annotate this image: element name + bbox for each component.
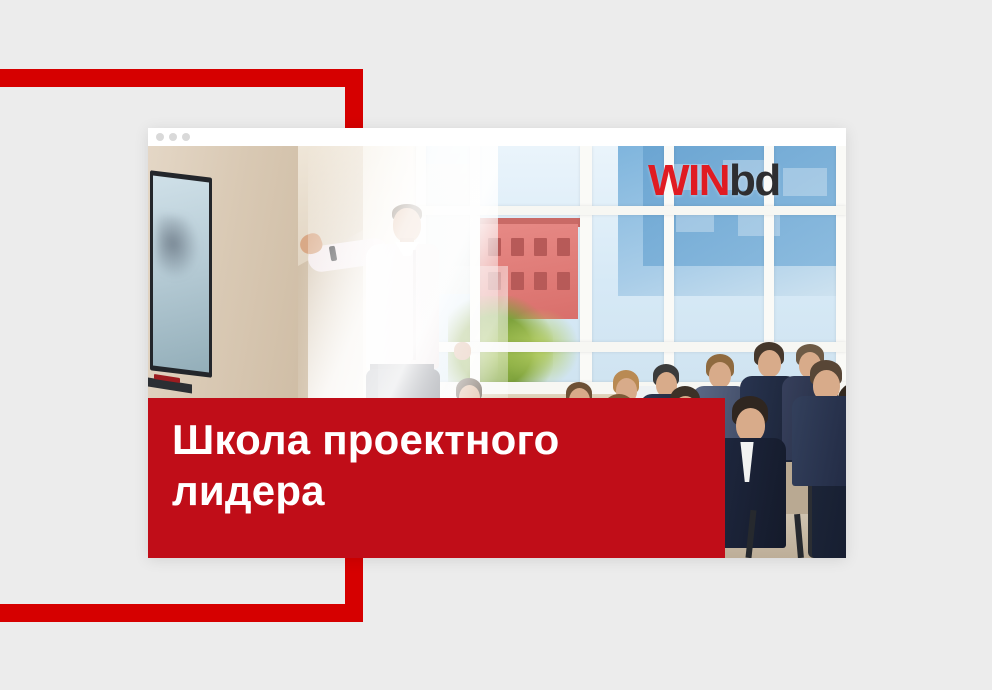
page-title: Школа проектного лидера — [172, 414, 692, 516]
pink-building-window — [557, 272, 570, 290]
pink-building-window — [488, 272, 501, 290]
window-minimize-dot[interactable] — [169, 133, 177, 141]
window-close-dot[interactable] — [156, 133, 164, 141]
winbd-logo: WINbd — [648, 159, 780, 203]
logo-bd-text: bd — [729, 156, 780, 205]
presenter-shirt-placket — [413, 250, 416, 360]
browser-titlebar — [148, 128, 846, 146]
window-transom — [416, 206, 846, 215]
window-mullion — [836, 146, 846, 396]
pink-building-window — [511, 238, 524, 256]
window-mullion — [580, 146, 592, 396]
presenter-hand-right — [454, 342, 471, 360]
frame-bottom-bar — [0, 604, 363, 622]
pink-building-window — [534, 238, 547, 256]
pink-building-window — [534, 272, 547, 290]
presenter-head — [393, 208, 421, 242]
logo-win-text: WIN — [648, 156, 729, 205]
person-head — [709, 362, 731, 388]
title-banner: Школа проектного лидера — [148, 398, 725, 558]
person-body — [792, 396, 846, 486]
pink-building-window — [511, 272, 524, 290]
person-head — [736, 408, 765, 442]
presenter-shirt — [366, 244, 439, 369]
tv-glare — [156, 213, 198, 280]
pink-building-window — [557, 238, 570, 256]
person-head — [758, 350, 781, 377]
blue-building-pane — [783, 168, 827, 196]
window-maximize-dot[interactable] — [182, 133, 190, 141]
window-mullion — [470, 146, 480, 396]
pink-building-window — [488, 238, 501, 256]
frame-top-bar — [0, 69, 363, 87]
